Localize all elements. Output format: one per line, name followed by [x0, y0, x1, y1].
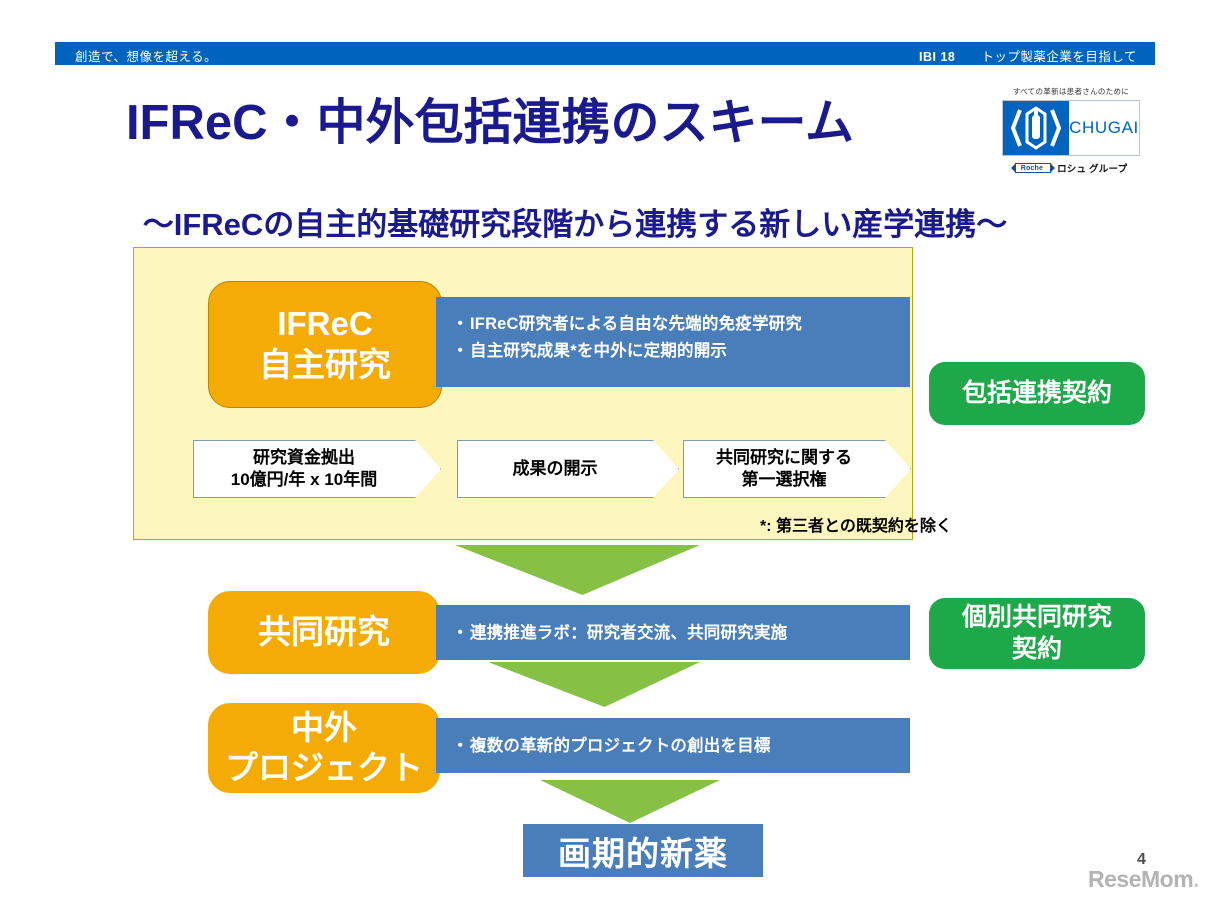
roche-group-line: Roche ロシュ グループ [996, 161, 1146, 175]
chevron-disclosure: 成果の開示 [457, 440, 679, 498]
chugai-project-line2: プロジェクト [225, 748, 423, 788]
chevron-disclosure-line1: 成果の開示 [513, 458, 598, 480]
ifrec-box-line1: IFReC [277, 304, 372, 344]
page-subtitle: 〜IFReCの自主的基礎研究段階から連携する新しい産学連携〜 [0, 199, 1150, 244]
down-arrow-icon [540, 780, 720, 823]
joint-research-bullet-box: ・連携推進ラボ：研究者交流、共同研究実施 [436, 605, 910, 660]
logo-wordmark: CHUGAI [1069, 101, 1139, 155]
chugai-logo-block: すべての革新は患者さんのために CHUGAI Roche ロシュ グループ [996, 86, 1146, 175]
joint-research-box: 共同研究 [208, 591, 440, 674]
ifrec-bullet-box: ・IFReC研究者による自由な先端的免疫学研究 ・自主研究成果*を中外に定期的開… [436, 297, 910, 387]
roche-group-label: ロシュ グループ [1057, 161, 1127, 175]
chevron-first-option: 共同研究に関する 第一選択権 [683, 440, 911, 498]
header-slogan: 創造で、想像を超える。 [75, 46, 217, 65]
chugai-emblem-icon [1003, 101, 1069, 155]
individual-contract-line1: 個別共同研究 [962, 602, 1112, 633]
individual-contract-line2: 契約 [962, 634, 1112, 665]
list-item: ・自主研究成果*を中外に定期的開示 [452, 338, 910, 365]
list-item: ・複数の革新的プロジェクトの創出を目標 [452, 733, 910, 760]
chevron-funding: 研究資金拠出 10億円/年 x 10年間 [193, 440, 441, 498]
individual-contract-badge: 個別共同研究 契約 [929, 598, 1145, 669]
chevron-funding-line2: 10億円/年 x 10年間 [231, 469, 377, 491]
slide-header-bar: 創造で、想像を超える。 IBI 18トップ製薬企業を目指して [55, 42, 1155, 65]
logo-box: CHUGAI [1002, 100, 1140, 156]
list-item: ・連携推進ラボ：研究者交流、共同研究実施 [452, 620, 910, 647]
list-item-label: 連携推進ラボ：研究者交流、共同研究実施 [470, 624, 787, 642]
list-item: ・IFReC研究者による自由な先端的免疫学研究 [452, 311, 910, 338]
logo-tagline: すべての革新は患者さんのために [996, 86, 1146, 97]
roche-badge-icon: Roche [1015, 163, 1051, 173]
list-item-label: 複数の革新的プロジェクトの創出を目標 [470, 737, 771, 755]
slide-canvas: 創造で、想像を超える。 IBI 18トップ製薬企業を目指して IFReC・中外包… [0, 0, 1210, 902]
resemom-watermark: ReseMom. [1088, 866, 1199, 893]
header-code: IBI 18 [919, 50, 955, 64]
bullet-dot-icon: ・ [452, 311, 470, 338]
ifrec-box-line2: 自主研究 [259, 345, 391, 385]
down-arrow-icon [455, 545, 700, 595]
watermark-dot: . [1193, 866, 1199, 892]
list-item-label: 自主研究成果*を中外に定期的開示 [470, 342, 727, 360]
bullet-dot-icon: ・ [452, 733, 470, 760]
list-item-label: IFReC研究者による自由な先端的免疫学研究 [470, 315, 802, 333]
chevron-first-option-line2: 第一選択権 [716, 469, 852, 491]
joint-research-label: 共同研究 [258, 612, 390, 652]
bullet-dot-icon: ・ [452, 620, 470, 647]
page-title: IFReC・中外包括連携のスキーム [0, 83, 980, 154]
chevron-funding-line1: 研究資金拠出 [231, 447, 377, 469]
down-arrow-icon [488, 662, 700, 707]
bullet-dot-icon: ・ [452, 338, 470, 365]
watermark-label: ReseMom [1088, 866, 1193, 892]
innovative-drug-box: 画期的新薬 [523, 824, 763, 877]
innovative-drug-label: 画期的新薬 [558, 827, 728, 875]
chugai-project-bullet-box: ・複数の革新的プロジェクトの創出を目標 [436, 718, 910, 773]
chevron-first-option-line1: 共同研究に関する [716, 447, 852, 469]
chugai-project-box: 中外 プロジェクト [208, 703, 440, 793]
comprehensive-contract-badge: 包括連携契約 [929, 362, 1145, 425]
ifrec-research-box: IFReC 自主研究 [208, 281, 442, 408]
header-tagline: トップ製薬企業を目指して [981, 50, 1137, 64]
chugai-project-line1: 中外 [291, 708, 357, 748]
footnote-text: *: 第三者との既契約を除く [760, 512, 952, 536]
header-right-group: IBI 18トップ製薬企業を目指して [919, 46, 1137, 65]
comprehensive-contract-label: 包括連携契約 [962, 378, 1112, 409]
